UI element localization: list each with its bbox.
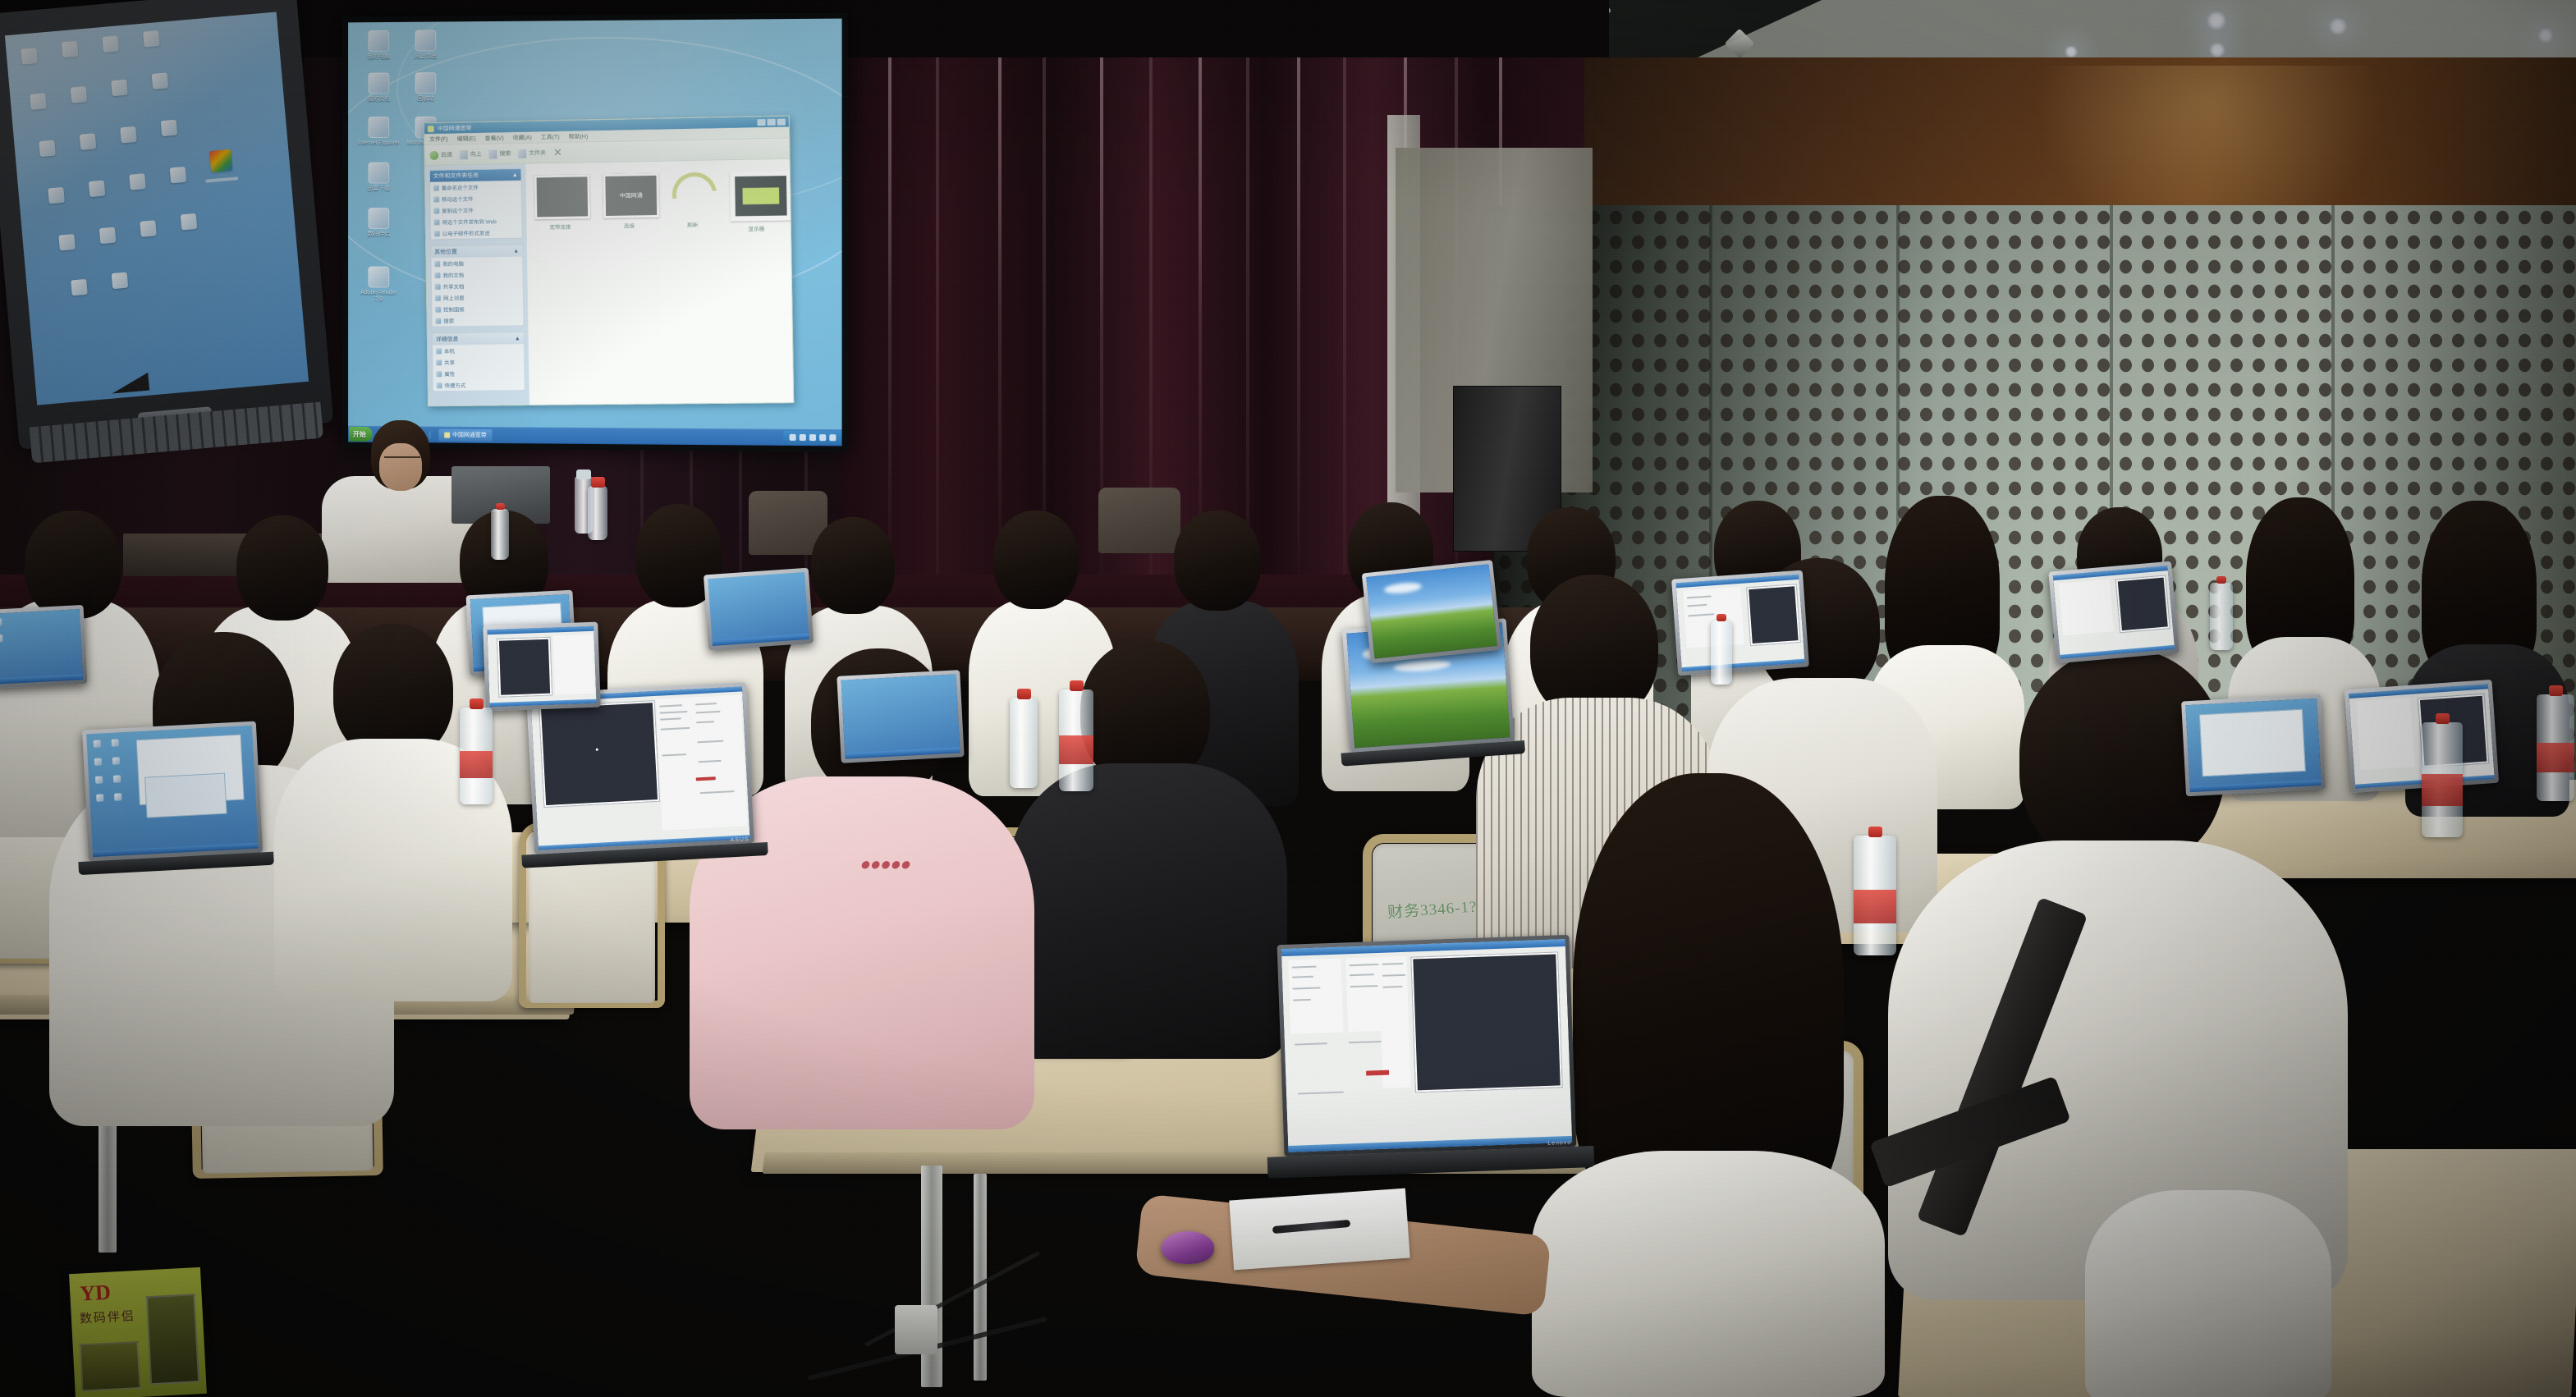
bottle-cap	[591, 477, 605, 488]
analysis-application	[1675, 575, 1804, 671]
place-item[interactable]: 控制面板	[432, 302, 523, 314]
detail-item[interactable]: 本机	[433, 344, 524, 356]
taskbar[interactable]	[713, 634, 809, 646]
stage-water-bottle	[588, 486, 607, 540]
menu-bar[interactable]: 文件(F) 编辑(E) 查看(V) 收藏(A) 工具(T) 帮助(H)	[424, 127, 789, 146]
chevron-up-icon[interactable]: ▲	[515, 336, 520, 341]
back-button[interactable]: 后退	[429, 150, 452, 159]
start-button[interactable]: 开始	[349, 427, 372, 442]
ceiling-downlight	[2327, 18, 2349, 34]
folder-icon	[428, 126, 434, 132]
shortcut-icon	[437, 382, 442, 388]
laptop-mid-centre[interactable]	[837, 670, 964, 763]
laptop-brand: Lenovo	[1547, 1140, 1571, 1147]
file-label: 连接	[624, 223, 635, 229]
machine-icon	[436, 348, 442, 354]
thumbnail-preview	[534, 174, 591, 219]
wallpaper-arc	[348, 34, 841, 312]
task-pane-other-places: 其他位置 ▲ 我的电脑 我的文档 共享文档 网上邻居 控制面板 搜索	[430, 245, 524, 327]
task-item[interactable]: 重命名这个文件	[430, 181, 521, 194]
desktop-icon[interactable]	[112, 273, 129, 290]
file-item[interactable]: 宽带连接	[534, 174, 586, 231]
attendee-head	[1174, 511, 1261, 611]
desktop-icon-my-documents[interactable]: 我的文档	[358, 72, 400, 103]
file-item[interactable]: 显示器	[730, 171, 782, 233]
pane-header[interactable]: 详细信息 ▲	[433, 332, 524, 345]
presenter-glasses	[384, 456, 420, 465]
laptop-lid	[2181, 694, 2326, 797]
laptop-lenovo-front[interactable]: Lenovo	[1277, 935, 1577, 1157]
folders-icon	[518, 149, 526, 158]
file-label: 显示器	[749, 227, 765, 232]
bottle-cap	[1717, 614, 1726, 621]
laptop-back-mid[interactable]	[704, 568, 814, 651]
bottle-cap	[576, 469, 591, 479]
water-bottle	[1854, 836, 1896, 955]
menu-view[interactable]: 查看(V)	[484, 134, 503, 142]
control-panel	[2356, 698, 2415, 770]
folder-icon	[444, 432, 450, 437]
publish-web-icon	[434, 219, 440, 225]
windows-xp-desktop	[708, 572, 809, 646]
image-canvas[interactable]	[1747, 584, 1800, 645]
projector-screen: 我的电脑 网上邻居 我的文档 回收站 Internet Explorer Mic…	[342, 12, 847, 451]
menu-edit[interactable]: 编辑(E)	[457, 135, 476, 143]
image-canvas[interactable]	[2116, 575, 2170, 632]
laptop-lid	[837, 670, 964, 763]
desktop-icon[interactable]	[94, 758, 102, 765]
recycle-bin-icon	[415, 72, 437, 94]
desktop-icon[interactable]	[113, 775, 121, 782]
task-pane-files: 文件和文件夹任务 ▲ 重命名这个文件 移动这个文件 复制这个文件 将这个文件发布…	[429, 168, 523, 240]
control-panel	[2059, 579, 2114, 635]
laptop-bliss-2[interactable]	[1362, 560, 1502, 663]
windows-xp-desktop	[2185, 698, 2321, 792]
water-bottle	[2210, 583, 2233, 650]
windows-bliss-wallpaper	[1366, 564, 1497, 658]
open-dialog[interactable]	[144, 773, 227, 818]
laptop-lid	[483, 622, 601, 712]
search-button[interactable]: 搜索	[488, 149, 511, 158]
download-icon	[369, 163, 390, 184]
monitor-thumbnail	[730, 171, 792, 222]
desktop-icon[interactable]	[0, 618, 2, 625]
app-titlebar	[487, 626, 594, 635]
attendee-head	[811, 517, 895, 614]
attendee-head	[993, 511, 1079, 609]
projected-windows-desktop: 我的电脑 网上邻居 我的文档 回收站 Internet Explorer Mic…	[348, 19, 841, 447]
detail-item[interactable]: 属性	[433, 367, 524, 379]
laptop-lid	[1671, 570, 1809, 676]
image-canvas[interactable]	[497, 638, 552, 697]
task-pane-sidebar: 文件和文件夹任务 ▲ 重命名这个文件 移动这个文件 复制这个文件 将这个文件发布…	[425, 164, 529, 406]
place-item[interactable]: 搜索	[432, 314, 523, 326]
desktop-icon[interactable]	[58, 234, 76, 251]
bottle-label	[1059, 735, 1093, 764]
product-name: 数码伴侣	[79, 1307, 135, 1327]
laptop-screen[interactable]	[1675, 575, 1804, 671]
desktop-icon[interactable]	[95, 776, 103, 783]
taskbar-window-button[interactable]: 中国网通宽带	[438, 428, 492, 441]
internet-explorer-icon	[369, 117, 390, 138]
cable	[864, 1251, 1040, 1347]
water-bottle	[1059, 689, 1093, 791]
windows-xp-desktop	[841, 674, 960, 758]
analysis-application	[2053, 566, 2175, 659]
product-window-cutout	[80, 1341, 141, 1392]
my-computer-icon	[434, 261, 440, 267]
file-list-area[interactable]: 宽带连接 中国网通 连接 刷新	[525, 159, 793, 406]
laptop-brand: ASUS	[731, 836, 749, 843]
laptop-lid	[82, 721, 263, 862]
canvas-marker	[596, 749, 598, 751]
email-icon	[434, 231, 440, 236]
share-icon	[436, 360, 442, 365]
word-icon	[415, 117, 437, 138]
ceiling-downlight	[2537, 28, 2555, 43]
attendee-torso	[1532, 1151, 1885, 1397]
task-item[interactable]: 将这个文件发布到 Web	[431, 215, 522, 228]
laptop-screen[interactable]	[0, 609, 83, 685]
place-item[interactable]: 共享文档	[432, 279, 523, 291]
open-window[interactable]	[2199, 709, 2306, 776]
my-documents-icon	[435, 272, 441, 277]
laptop-far-left-back[interactable]	[0, 605, 87, 689]
water-bottle	[1711, 621, 1732, 685]
system-tray[interactable]	[783, 431, 841, 445]
cloud	[1383, 581, 1422, 595]
copy-icon	[433, 208, 439, 213]
bottle-cap	[470, 698, 484, 709]
window-title: 中国网通宽带	[438, 118, 754, 133]
desktop-icon[interactable]	[96, 794, 103, 801]
desktop-icon-word[interactable]: Microsoft Word	[405, 117, 447, 147]
ceiling-downlight	[2205, 11, 2228, 30]
minimize-button[interactable]	[757, 119, 765, 126]
laptop-right-mid-back[interactable]	[2181, 694, 2326, 797]
my-documents-icon	[369, 73, 390, 94]
tray-icon-antivirus[interactable]	[819, 434, 826, 441]
laptop-lid	[1362, 560, 1502, 663]
product-logo: YD	[80, 1280, 112, 1307]
chevron-up-icon[interactable]: ▲	[512, 172, 518, 177]
desktop-icon[interactable]	[140, 220, 157, 237]
desktop-icon[interactable]	[112, 757, 120, 764]
cloud	[1393, 659, 1451, 673]
menu-tools[interactable]: 工具(T)	[541, 133, 560, 141]
desktop-icon[interactable]	[181, 213, 198, 231]
thumbnail-preview: 中国网通	[603, 173, 659, 218]
windows-xp-desktop	[0, 609, 83, 685]
search-icon	[488, 149, 497, 158]
file-item[interactable]: 中国网通 连接	[603, 173, 654, 230]
control-panel-left	[1288, 959, 1343, 1034]
window-body: 文件和文件夹任务 ▲ 重命名这个文件 移动这个文件 复制这个文件 将这个文件发布…	[425, 159, 794, 406]
maximize-button[interactable]	[767, 118, 775, 125]
water-bottle	[2537, 694, 2574, 801]
desktop-icon[interactable]	[71, 279, 88, 296]
presenter-face	[379, 443, 422, 491]
attendee-head	[25, 511, 121, 619]
laptop-screen[interactable]	[487, 626, 596, 707]
menu-help[interactable]: 帮助(H)	[569, 132, 589, 140]
desktop-icon[interactable]	[94, 740, 101, 747]
desktop-icon[interactable]	[112, 739, 119, 746]
back-arrow-icon	[429, 150, 438, 159]
chevron-up-icon[interactable]: ▲	[513, 248, 519, 254]
place-item[interactable]: 我的文档	[432, 268, 523, 282]
adobe-reader-icon	[369, 267, 390, 288]
image-canvas[interactable]	[1411, 952, 1562, 1092]
laptop-lid	[0, 605, 87, 689]
tshirt-graffiti-print: ●●●●●	[858, 854, 913, 875]
pane-header[interactable]: 其他位置 ▲	[431, 245, 522, 259]
desktop-icon-network[interactable]: 网上邻居	[405, 30, 447, 60]
file-label: 宽带连接	[549, 225, 571, 231]
analysis-application	[530, 686, 749, 850]
laptop-screen[interactable]	[841, 674, 960, 758]
ceiling-downlight	[2208, 43, 2226, 57]
place-item[interactable]: 我的电脑	[431, 257, 522, 270]
laptop-screen[interactable]	[530, 686, 749, 850]
tray-icon-network[interactable]	[790, 434, 796, 441]
laptop-lid	[704, 568, 814, 651]
shared-docs-icon	[435, 283, 441, 289]
taskbar[interactable]	[0, 674, 83, 685]
toolbar[interactable]: 后退 向上 搜索 文件夹 ✕	[424, 139, 789, 166]
window-controls[interactable]	[757, 118, 786, 126]
desktop-icon[interactable]	[0, 634, 3, 642]
desktop-icon-thunder[interactable]: 迅雷下载	[358, 163, 400, 193]
desktop-icon[interactable]	[114, 793, 121, 800]
seminar-room-photo: 我的电脑 网上邻居 我的文档 回收站 Internet Explorer Mic…	[0, 0, 2576, 1397]
desktop-icon[interactable]	[99, 227, 117, 245]
convertible-tablet-pc[interactable]	[0, 0, 333, 450]
network-icon	[415, 30, 437, 51]
laptop-screen[interactable]	[1366, 564, 1497, 658]
water-bottle	[491, 509, 509, 560]
up-button[interactable]: 向上	[460, 149, 482, 158]
monitor-bar	[742, 188, 779, 204]
ceiling-downlight	[2064, 46, 2079, 57]
task-item[interactable]: 复制这个文件	[430, 204, 521, 217]
water-bottle	[460, 708, 493, 804]
bottle-cap	[1017, 689, 1031, 699]
place-item[interactable]: 网上邻居	[432, 291, 523, 303]
desktop-icon-ie[interactable]: Internet Explorer	[358, 117, 400, 147]
laptop-back-right[interactable]	[1671, 570, 1809, 676]
task-pane-details: 详细信息 ▲ 本机 共享 属性 快捷方式	[432, 332, 525, 392]
media-icon	[369, 208, 390, 229]
window-titlebar[interactable]: 中国网通宽带	[424, 116, 789, 134]
analysis-application	[1281, 939, 1572, 1152]
refresh-swirl-icon	[663, 164, 725, 226]
bottle-label	[2537, 743, 2574, 772]
bottle-label	[1854, 890, 1896, 923]
file-label: 刷新	[687, 222, 698, 228]
monitor-screen	[735, 176, 786, 216]
network-icon	[435, 295, 441, 300]
folders-button[interactable]: 文件夹	[518, 149, 546, 158]
desktop-icon-recycle-bin[interactable]: 回收站	[405, 72, 447, 103]
task-item[interactable]: 移动这个文件	[430, 192, 521, 205]
menu-favorites[interactable]: 收藏(A)	[513, 133, 532, 141]
thumbnail-caption: 中国网通	[620, 191, 643, 199]
task-item[interactable]: 以电子邮件形式发送	[431, 227, 522, 240]
rename-icon	[433, 185, 439, 190]
move-icon	[433, 196, 439, 202]
laptop-xp-left[interactable]	[82, 721, 263, 862]
bottle-cap	[2549, 685, 2563, 696]
pane-header[interactable]: 文件和文件夹任务 ▲	[430, 169, 521, 182]
laptop-left-back-row[interactable]	[483, 622, 601, 712]
close-button[interactable]	[777, 118, 786, 125]
delete-x-icon: ✕	[553, 146, 562, 159]
tablet-screen[interactable]	[5, 11, 309, 405]
laptop-screen[interactable]	[708, 572, 809, 646]
tray-icon-ime[interactable]	[809, 434, 816, 441]
explorer-window[interactable]: 中国网通宽带 文件(F) 编辑(E) 查看(V) 收藏(A) 工具(T) 帮助(…	[424, 115, 795, 406]
tray-icon-volume[interactable]	[800, 434, 806, 441]
desk-leg	[974, 1174, 987, 1381]
panel-row	[1295, 1042, 1327, 1045]
laptop-back-right-2[interactable]	[2048, 561, 2179, 664]
laptop-screen[interactable]	[86, 726, 259, 857]
detail-item[interactable]: 快捷方式	[433, 378, 525, 391]
laptop-lid	[2048, 561, 2179, 664]
menu-file[interactable]: 文件(F)	[429, 135, 448, 143]
bottle-label	[460, 751, 493, 778]
app-statusbar	[490, 699, 597, 708]
bottle-cap	[496, 503, 505, 510]
screen-glare	[5, 11, 309, 249]
panel-row	[1349, 1041, 1382, 1043]
desktop-icon-adobe-reader[interactable]: Adobe Reader 7.0	[358, 267, 400, 304]
my-computer-icon	[369, 30, 390, 52]
image-canvas[interactable]	[539, 701, 659, 807]
analysis-application	[487, 626, 596, 707]
record-button[interactable]	[1366, 1070, 1389, 1076]
control-panel	[553, 634, 594, 695]
laptop-screen[interactable]	[2185, 698, 2321, 792]
search-icon	[435, 318, 441, 323]
up-arrow-icon	[460, 150, 468, 159]
attendee-torso	[2085, 1190, 2331, 1397]
bottle-cap	[1868, 827, 1882, 837]
power-outlet[interactable]	[895, 1305, 937, 1354]
wallpaper-arc	[396, 19, 842, 213]
product-box: YD 数码伴侣	[69, 1267, 207, 1397]
screen-corner-marker	[110, 373, 149, 394]
laptop-screen[interactable]	[2053, 566, 2175, 659]
laptop-lid: Lenovo	[1277, 935, 1577, 1157]
file-item[interactable]: 刷新	[672, 172, 713, 229]
bottle-cap	[1070, 680, 1084, 691]
attendee-torso	[1008, 763, 1287, 1059]
taskbar[interactable]	[845, 747, 960, 758]
water-bottle	[2422, 722, 2463, 837]
desktop-icon-my-computer[interactable]: 我的电脑	[358, 30, 400, 61]
computer-mouse[interactable]	[1162, 1231, 1214, 1264]
product-window-cutout	[146, 1294, 200, 1385]
windows-xp-desktop	[86, 726, 259, 857]
attendee-head	[236, 515, 328, 621]
panel-row	[1298, 1092, 1344, 1095]
delete-button[interactable]: ✕	[553, 146, 562, 159]
tray-icon-clock[interactable]	[829, 434, 836, 441]
control-panel-icon	[435, 306, 441, 312]
bottle-label	[2422, 774, 2463, 806]
desktop-icon-companion[interactable]: 数码伴侣	[358, 208, 400, 238]
laptop-screen[interactable]	[1281, 939, 1572, 1152]
bottle-cap	[2436, 713, 2450, 724]
thumbnail-grid: 宽带连接 中国网通 连接 刷新	[534, 171, 782, 236]
stage-chair	[1098, 488, 1180, 553]
bottle-cap	[2216, 576, 2226, 584]
properties-icon	[436, 371, 442, 377]
taskbar[interactable]	[2190, 780, 2322, 792]
water-bottle	[1010, 698, 1038, 788]
detail-item[interactable]: 共享	[433, 355, 524, 368]
